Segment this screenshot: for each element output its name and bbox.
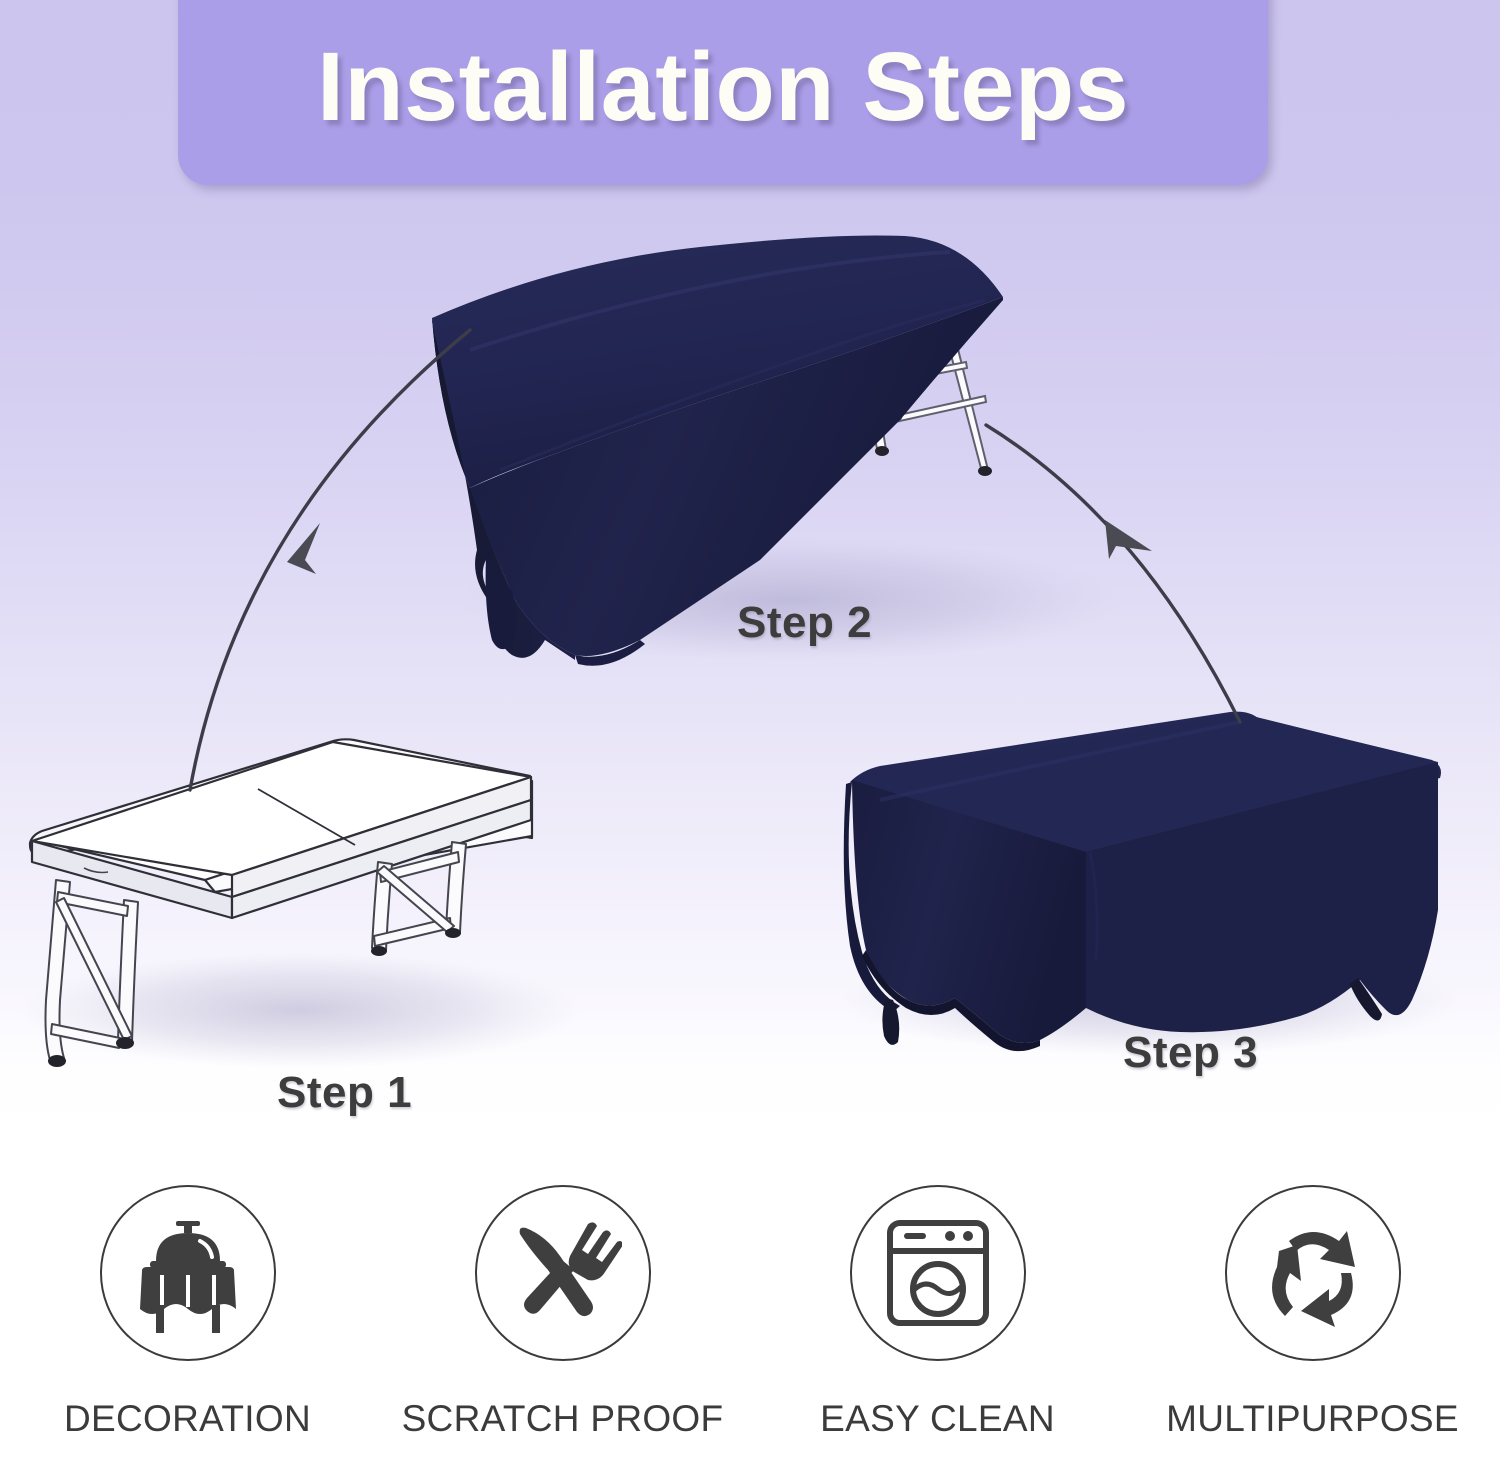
feature-decoration-circle — [100, 1185, 276, 1361]
recycle-arrows-icon — [1255, 1215, 1371, 1331]
arrow-step1-to-step2-head — [287, 523, 320, 574]
feature-multipurpose-label: MULTIPURPOSE — [1166, 1398, 1459, 1440]
feature-strip: DECORATION SCRATCH PROOF — [0, 1185, 1500, 1464]
feature-easy-clean-label: EASY CLEAN — [820, 1398, 1055, 1440]
feature-decoration: DECORATION — [0, 1185, 375, 1464]
step1-ground-shadow — [20, 952, 580, 1068]
knife-fork-icon — [504, 1214, 622, 1332]
feature-multipurpose-circle — [1225, 1185, 1401, 1361]
feature-decoration-label: DECORATION — [64, 1398, 311, 1440]
arrow-step2-to-step3-head — [1105, 520, 1152, 559]
step3-label: Step 3 — [1123, 1028, 1258, 1078]
feature-multipurpose: MULTIPURPOSE — [1125, 1185, 1500, 1464]
feature-easy-clean-circle — [850, 1185, 1026, 1361]
cloche-table-icon — [128, 1213, 248, 1333]
arrow-step1-to-step2 — [190, 330, 470, 790]
step1-label: Step 1 — [277, 1068, 412, 1118]
installation-steps-scene: Step 1 Step 2 Step 3 — [0, 0, 1500, 1180]
feature-scratch-proof-label: SCRATCH PROOF — [402, 1398, 724, 1440]
step2-label: Step 2 — [737, 598, 872, 648]
infographic-page: Installation Steps — [0, 0, 1500, 1464]
feature-scratch-proof: SCRATCH PROOF — [375, 1185, 750, 1464]
feature-scratch-proof-circle — [475, 1185, 651, 1361]
washing-machine-icon — [882, 1215, 994, 1331]
feature-easy-clean: EASY CLEAN — [750, 1185, 1125, 1464]
